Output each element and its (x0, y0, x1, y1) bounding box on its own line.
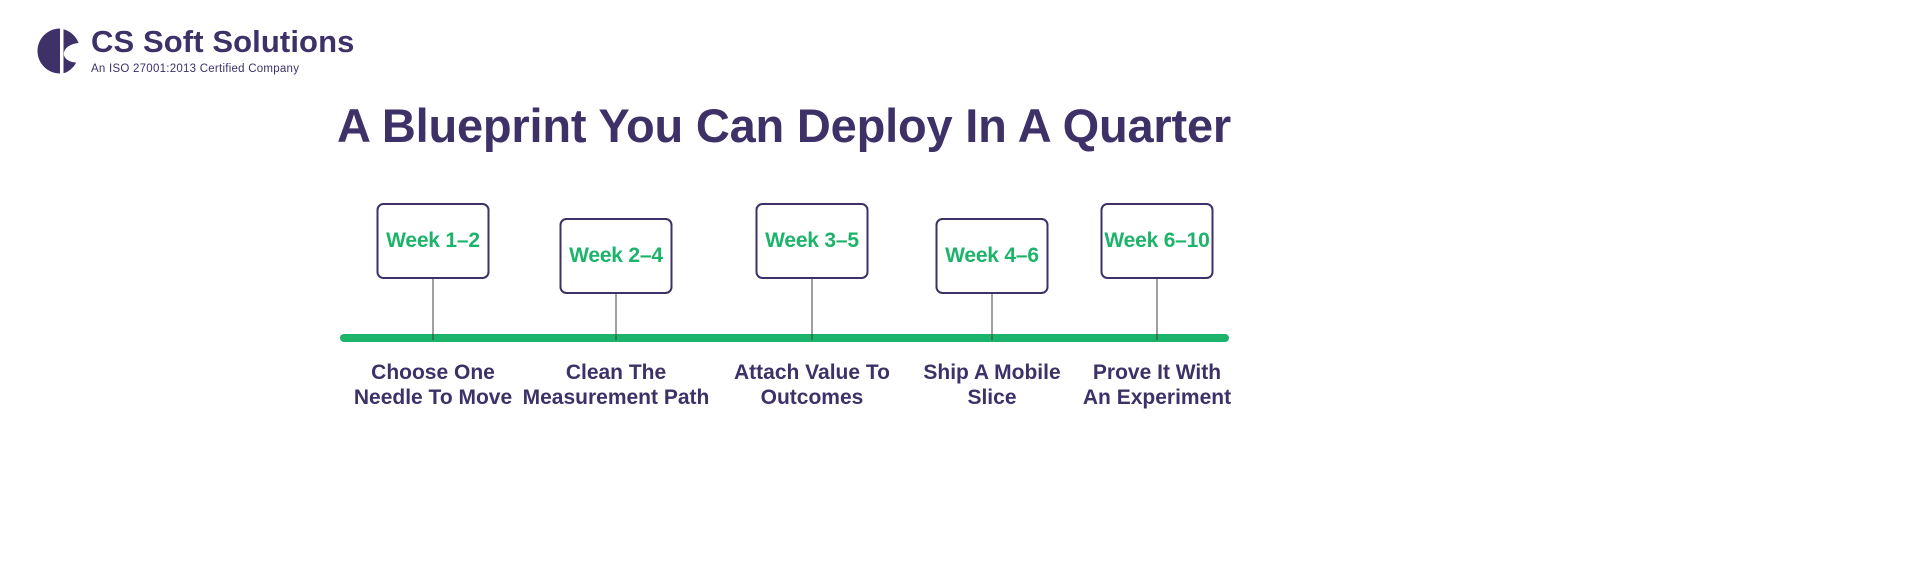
timeline-bar (340, 334, 1229, 342)
brand-name: CS Soft Solutions (91, 26, 354, 59)
brand-tagline: An ISO 27001:2013 Certified Company (91, 63, 354, 75)
milestone-week-box[interactable]: Week 1–2 (377, 203, 490, 279)
milestone-week-label: Week 6–10 (1104, 229, 1209, 253)
milestone-week-box[interactable]: Week 3–5 (756, 203, 869, 279)
milestone-week-box[interactable]: Week 4–6 (936, 218, 1049, 294)
milestone-caption: Prove It WithAn Experiment (1047, 361, 1267, 411)
milestone-connector-line (1157, 279, 1158, 340)
milestone-caption-line1: Clean The (566, 361, 666, 384)
milestone-week-box[interactable]: Week 6–10 (1101, 203, 1214, 279)
milestone-week-label: Week 2–4 (569, 244, 663, 268)
milestone-caption-line1: Choose One (371, 361, 495, 384)
milestone-week-label: Week 1–2 (386, 229, 480, 253)
milestone-week-label: Week 3–5 (765, 229, 859, 253)
milestone-connector-line (992, 294, 993, 340)
milestone-caption-line1: Prove It With (1093, 361, 1221, 384)
brand-logo[interactable]: CS Soft Solutions An ISO 27001:2013 Cert… (36, 26, 354, 75)
milestone-connector-line (433, 279, 434, 340)
milestone-connector-line (616, 294, 617, 340)
milestone-week-label: Week 4–6 (945, 244, 1039, 268)
cs-logo-mark-icon (36, 27, 82, 75)
milestone-caption-line2: Measurement Path (506, 386, 726, 411)
milestone-week-box[interactable]: Week 2–4 (560, 218, 673, 294)
milestone-caption-line2: An Experiment (1047, 386, 1267, 411)
page-title: A Blueprint You Can Deploy In A Quarter (0, 98, 1568, 153)
milestone-connector-line (812, 279, 813, 340)
milestone-caption-line1: Attach Value To (734, 361, 890, 384)
brand-text-block: CS Soft Solutions An ISO 27001:2013 Cert… (91, 26, 354, 75)
timeline-graphic: Week 1–2Choose OneNeedle To MoveWeek 2–4… (0, 185, 1568, 445)
milestone-caption: Clean TheMeasurement Path (506, 361, 726, 411)
milestone-caption-line1: Ship A Mobile (923, 361, 1060, 384)
